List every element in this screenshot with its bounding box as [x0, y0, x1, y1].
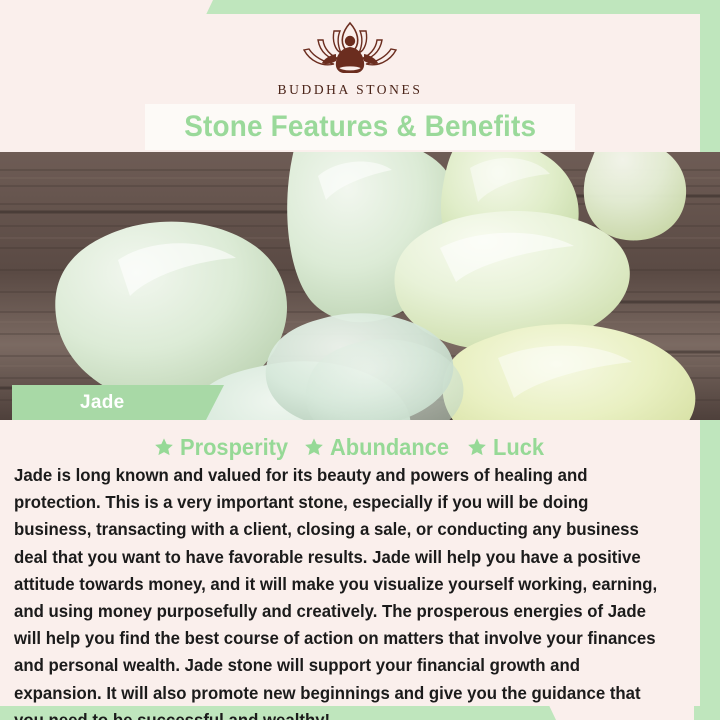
keyword-list: Prosperity Abundance Luck: [0, 430, 700, 464]
keyword-item: Prosperity: [154, 434, 294, 461]
stone-photo-illustration: [0, 152, 720, 420]
stone-name: Jade: [80, 392, 125, 414]
stone-name-tag: Jade: [12, 385, 224, 420]
stone-description: Jade is long known and valued for its be…: [14, 462, 668, 720]
star-icon: [154, 437, 174, 457]
infographic-card: BUDDHA STONES Stone Features & Benefits: [0, 0, 720, 720]
keyword-item: Luck: [467, 434, 547, 461]
keyword-label: Prosperity: [180, 434, 288, 461]
lotus-meditation-logo-icon: [290, 18, 410, 80]
page-title-banner: Stone Features & Benefits: [145, 104, 575, 150]
star-icon: [304, 437, 324, 457]
keyword-item: Abundance: [304, 434, 455, 461]
keyword-label: Luck: [493, 434, 544, 461]
brand-name: BUDDHA STONES: [278, 82, 423, 98]
page-title: Stone Features & Benefits: [184, 110, 536, 144]
star-icon: [467, 437, 487, 457]
brand-logo: BUDDHA STONES: [0, 18, 700, 104]
stone-photo: [0, 152, 720, 420]
keyword-label: Abundance: [330, 434, 449, 461]
